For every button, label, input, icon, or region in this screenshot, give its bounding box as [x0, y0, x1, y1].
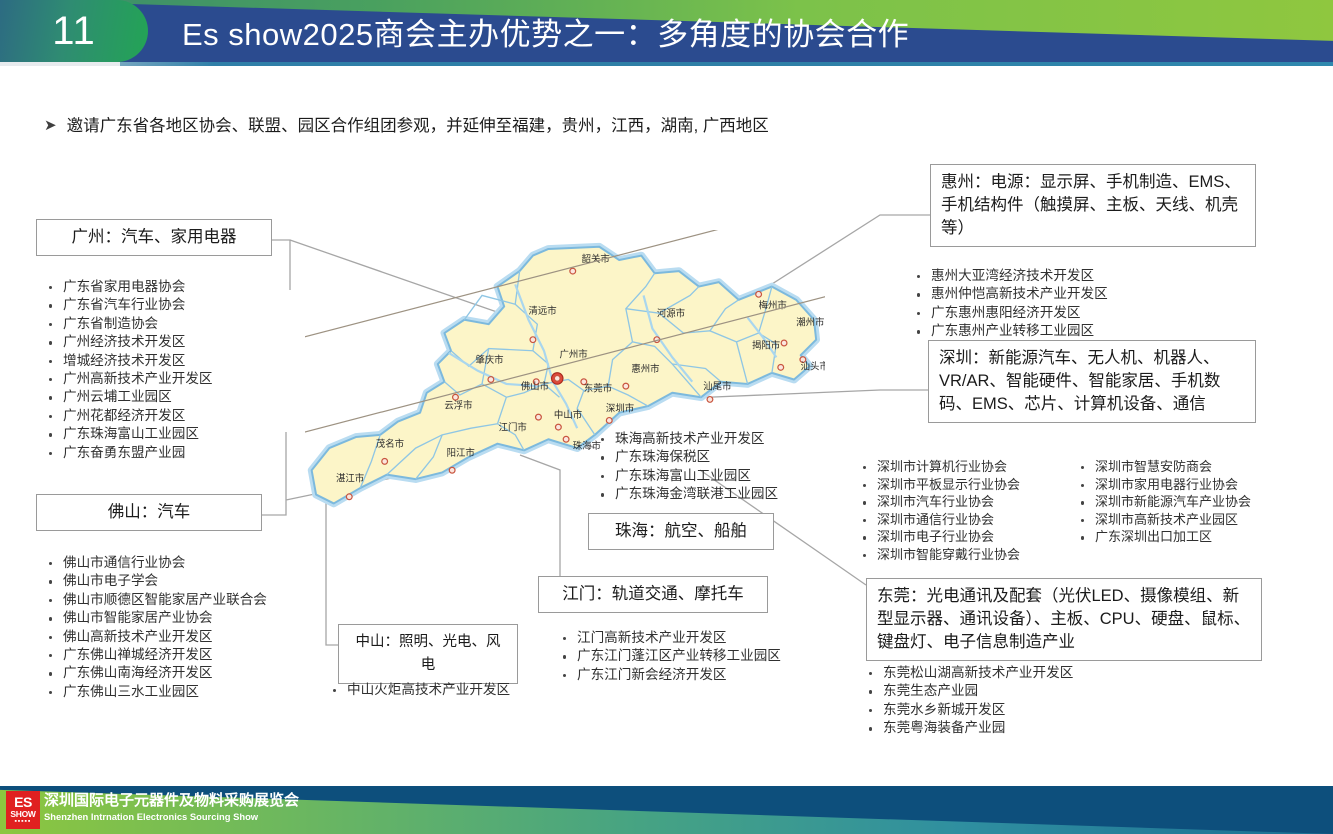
list-item: 广州经济技术开发区 — [46, 333, 213, 351]
list-item: 东莞水乡新城开发区 — [866, 701, 1073, 719]
list-zhuhai: 珠海高新技术产业开发区广东珠海保税区广东珠海富山工业园区广东珠海金湾联港工业园区 — [598, 430, 778, 504]
list-item: 广州云埔工业园区 — [46, 388, 213, 406]
map-city-marker — [449, 467, 455, 473]
list-item: 广东江门蓬江区产业转移工业园区 — [560, 647, 781, 665]
list-item: 深圳市高新技术产业园区 — [1078, 511, 1251, 529]
box-jiangmen[interactable]: 江门：轨道交通、摩托车 — [538, 576, 768, 613]
list-item: 惠州大亚湾经济技术开发区 — [914, 267, 1108, 285]
list-dongguan-items: 东莞松山湖高新技术产业开发区东莞生态产业园东莞水乡新城开发区东莞粤海装备产业园 — [866, 664, 1073, 738]
list-item: 东莞粤海装备产业园 — [866, 719, 1073, 737]
list-shenzhen-col2: 深圳市智慧安防商会深圳市家用电器行业协会深圳市新能源汽车产业协会深圳市高新技术产… — [1078, 458, 1251, 546]
list-item: 广东佛山三水工业园区 — [46, 683, 267, 701]
list-guangzhou-items: 广东省家用电器协会广东省汽车行业协会广东省制造协会广州经济技术开发区增城经济技术… — [46, 278, 213, 462]
slide-header: 11 Es show2025商会主办优势之一：多角度的协会合作 — [0, 0, 1333, 66]
header-underbar-light — [0, 62, 120, 66]
map-city-marker — [756, 291, 762, 297]
map-city-label: 惠州市 — [631, 363, 659, 374]
list-item: 佛山高新技术产业开发区 — [46, 628, 267, 646]
list-zhongshan: 中山火炬高技术产业开发区 — [330, 681, 510, 699]
list-item: 佛山市通信行业协会 — [46, 554, 267, 572]
list-item: 广东深圳出口加工区 — [1078, 528, 1251, 546]
map-city-marker — [781, 340, 787, 346]
list-jiangmen-items: 江门高新技术产业开发区广东江门蓬江区产业转移工业园区广东江门新会经济开发区 — [560, 629, 781, 684]
map-city-marker — [623, 383, 629, 389]
list-item: 广州花都经济开发区 — [46, 407, 213, 425]
box-shenzhen-title: 深圳：新能源汽车、无人机、机器人、VR/AR、智能硬件、智能家居、手机数码、EM… — [929, 341, 1255, 422]
map-city-label: 云浮市 — [444, 399, 472, 410]
map-svg: 韶关市清远市河源市梅州市潮州市揭阳市汕头市肇庆市广州市佛山市惠州市东莞市汕尾市云… — [305, 230, 825, 560]
footer-title-en: Shenzhen Intrnation Electronics Sourcing… — [44, 811, 258, 823]
page-title: Es show2025商会主办优势之一：多角度的协会合作 — [182, 0, 909, 62]
list-item: 广东省制造协会 — [46, 315, 213, 333]
list-item: 深圳市平板显示行业协会 — [860, 476, 1020, 494]
list-item: 广东佛山禅城经济开发区 — [46, 646, 267, 664]
box-zhongshan[interactable]: 中山：照明、光电、风电 — [338, 624, 518, 684]
subtitle-line: ➤ 邀请广东省各地区协会、联盟、园区合作组团参观，并延伸至福建，贵州，江西，湖南… — [44, 116, 769, 136]
map-city-label: 梅州市 — [759, 300, 787, 311]
box-zhongshan-title: 中山：照明、光电、风电 — [339, 625, 517, 683]
list-item: 广东珠海金湾联港工业园区 — [598, 485, 778, 503]
map-city-marker — [530, 337, 536, 343]
box-dongguan[interactable]: 东莞：光电通讯及配套（光伏LED、摄像模组、新型显示器、通讯设备）、主板、CPU… — [866, 578, 1262, 661]
box-huizhou[interactable]: 惠州：电源：显示屏、手机制造、EMS、手机结构件（触摸屏、主板、天线、机壳等） — [930, 164, 1256, 247]
slide-number-badge: 11 — [0, 0, 148, 62]
map-city-marker — [346, 494, 352, 500]
guangdong-province-map: 韶关市清远市河源市梅州市潮州市揭阳市汕头市肇庆市广州市佛山市惠州市东莞市汕尾市云… — [305, 230, 825, 560]
map-city-label: 汕头市 — [801, 361, 825, 372]
map-city-label: 佛山市 — [521, 380, 549, 391]
list-item: 广东珠海保税区 — [598, 448, 778, 466]
box-shenzhen[interactable]: 深圳：新能源汽车、无人机、机器人、VR/AR、智能硬件、智能家居、手机数码、EM… — [928, 340, 1256, 423]
map-city-marker — [555, 424, 561, 430]
map-city-label: 东莞市 — [584, 383, 612, 394]
box-huizhou-title: 惠州：电源：显示屏、手机制造、EMS、手机结构件（触摸屏、主板、天线、机壳等） — [931, 165, 1255, 246]
list-jiangmen: 江门高新技术产业开发区广东江门蓬江区产业转移工业园区广东江门新会经济开发区 — [560, 629, 781, 684]
list-huizhou-items: 惠州大亚湾经济技术开发区惠州仲恺高新技术产业开发区广东惠州惠阳经济开发区广东惠州… — [914, 267, 1108, 341]
list-item: 广东省汽车行业协会 — [46, 296, 213, 314]
subtitle-text: 邀请广东省各地区协会、联盟、园区合作组团参观，并延伸至福建，贵州，江西，湖南, … — [67, 116, 769, 136]
list-item: 深圳市通信行业协会 — [860, 511, 1020, 529]
list-item: 佛山市电子学会 — [46, 572, 267, 590]
map-city-label: 中山市 — [554, 409, 582, 420]
list-item: 深圳市家用电器行业协会 — [1078, 476, 1251, 494]
list-zhuhai-items: 珠海高新技术产业开发区广东珠海保税区广东珠海富山工业园区广东珠海金湾联港工业园区 — [598, 430, 778, 504]
list-item: 中山火炬高技术产业开发区 — [330, 681, 510, 699]
map-city-label: 肇庆市 — [475, 354, 503, 365]
map-city-label: 广州市 — [559, 348, 587, 359]
list-item: 珠海高新技术产业开发区 — [598, 430, 778, 448]
map-city-marker — [554, 376, 560, 382]
arrow-bullet-icon: ➤ — [44, 116, 57, 136]
map-city-marker — [778, 364, 784, 370]
list-item: 广东佛山南海经济开发区 — [46, 664, 267, 682]
box-foshan-title: 佛山：汽车 — [37, 495, 261, 530]
slide-canvas: 11 Es show2025商会主办优势之一：多角度的协会合作 ➤ 邀请广东省各… — [0, 0, 1333, 834]
logo-text-show: SHOW — [10, 809, 35, 819]
list-item: 广东江门新会经济开发区 — [560, 666, 781, 684]
box-guangzhou[interactable]: 广州：汽车、家用电器 — [36, 219, 272, 256]
header-underbar — [0, 62, 1333, 66]
list-zhongshan-items: 中山火炬高技术产业开发区 — [330, 681, 510, 699]
map-city-label: 潮州市 — [796, 316, 824, 327]
list-item: 广东珠海富山工业园区 — [46, 425, 213, 443]
map-city-marker — [488, 377, 494, 383]
list-item: 东莞松山湖高新技术产业开发区 — [866, 664, 1073, 682]
box-jiangmen-title: 江门：轨道交通、摩托车 — [539, 577, 767, 612]
list-shenzhen-col1-items: 深圳市计算机行业协会深圳市平板显示行业协会深圳市汽车行业协会深圳市通信行业协会深… — [860, 458, 1020, 564]
map-city-marker — [563, 436, 569, 442]
list-shenzhen-col2-items: 深圳市智慧安防商会深圳市家用电器行业协会深圳市新能源汽车产业协会深圳市高新技术产… — [1078, 458, 1251, 546]
map-city-label: 珠海市 — [573, 440, 601, 451]
map-city-label: 汕尾市 — [703, 380, 731, 391]
list-dongguan: 东莞松山湖高新技术产业开发区东莞生态产业园东莞水乡新城开发区东莞粤海装备产业园 — [866, 664, 1073, 738]
list-item: 惠州仲恺高新技术产业开发区 — [914, 285, 1108, 303]
list-shenzhen-col1: 深圳市计算机行业协会深圳市平板显示行业协会深圳市汽车行业协会深圳市通信行业协会深… — [860, 458, 1020, 564]
map-city-label: 河源市 — [657, 307, 685, 318]
list-item: 深圳市新能源汽车产业协会 — [1078, 493, 1251, 511]
list-foshan-items: 佛山市通信行业协会佛山市电子学会佛山市顺德区智能家居产业联合会佛山市智能家居产业… — [46, 554, 267, 701]
list-item: 广东省家用电器协会 — [46, 278, 213, 296]
list-item: 江门高新技术产业开发区 — [560, 629, 781, 647]
list-item: 东莞生态产业园 — [866, 682, 1073, 700]
box-guangzhou-title: 广州：汽车、家用电器 — [37, 220, 271, 255]
footer-title-cn: 深圳国际电子元器件及物料采购展览会 — [44, 792, 299, 810]
list-item: 深圳市智慧安防商会 — [1078, 458, 1251, 476]
slide-number: 11 — [52, 11, 96, 51]
map-city-marker — [382, 459, 388, 465]
map-city-label: 茂名市 — [376, 438, 404, 449]
list-item: 佛山市顺德区智能家居产业联合会 — [46, 591, 267, 609]
box-zhuhai[interactable]: 珠海：航空、船舶 — [588, 513, 774, 550]
list-item: 深圳市计算机行业协会 — [860, 458, 1020, 476]
map-city-label: 深圳市 — [606, 403, 634, 414]
logo-text-es: ES — [14, 796, 32, 809]
list-item: 广东惠州惠阳经济开发区 — [914, 304, 1108, 322]
map-city-label: 揭阳市 — [752, 340, 780, 351]
map-city-label: 江门市 — [499, 421, 527, 432]
list-foshan: 佛山市通信行业协会佛山市电子学会佛山市顺德区智能家居产业联合会佛山市智能家居产业… — [46, 554, 267, 701]
map-city-label: 阳江市 — [447, 447, 475, 458]
logo-text-bars: ■■■■■ — [15, 819, 32, 824]
list-item: 广州高新技术产业开发区 — [46, 370, 213, 388]
list-item: 广东奋勇东盟产业园 — [46, 444, 213, 462]
map-city-label: 清远市 — [528, 305, 556, 316]
box-zhuhai-title: 珠海：航空、船舶 — [589, 514, 773, 549]
esshow-logo: ES SHOW ■■■■■ — [6, 791, 40, 829]
list-item: 广东惠州产业转移工业园区 — [914, 322, 1108, 340]
map-city-marker — [570, 268, 576, 274]
map-city-label: 湛江市 — [336, 472, 364, 483]
map-city-marker — [536, 414, 542, 420]
list-item: 深圳市汽车行业协会 — [860, 493, 1020, 511]
list-guangzhou: 广东省家用电器协会广东省汽车行业协会广东省制造协会广州经济技术开发区增城经济技术… — [46, 278, 213, 462]
list-huizhou: 惠州大亚湾经济技术开发区惠州仲恺高新技术产业开发区广东惠州惠阳经济开发区广东惠州… — [914, 267, 1108, 341]
list-item: 佛山市智能家居产业协会 — [46, 609, 267, 627]
list-item: 增城经济技术开发区 — [46, 352, 213, 370]
map-city-marker — [606, 418, 612, 424]
map-city-marker — [707, 397, 713, 403]
box-dongguan-title: 东莞：光电通讯及配套（光伏LED、摄像模组、新型显示器、通讯设备）、主板、CPU… — [867, 579, 1261, 660]
list-item: 深圳市电子行业协会 — [860, 528, 1020, 546]
slide-footer: ES SHOW ■■■■■ 深圳国际电子元器件及物料采购展览会 Shenzhen… — [0, 786, 1333, 834]
box-foshan[interactable]: 佛山：汽车 — [36, 494, 262, 531]
list-item: 广东珠海富山工业园区 — [598, 467, 778, 485]
list-item: 深圳市智能穿戴行业协会 — [860, 546, 1020, 564]
